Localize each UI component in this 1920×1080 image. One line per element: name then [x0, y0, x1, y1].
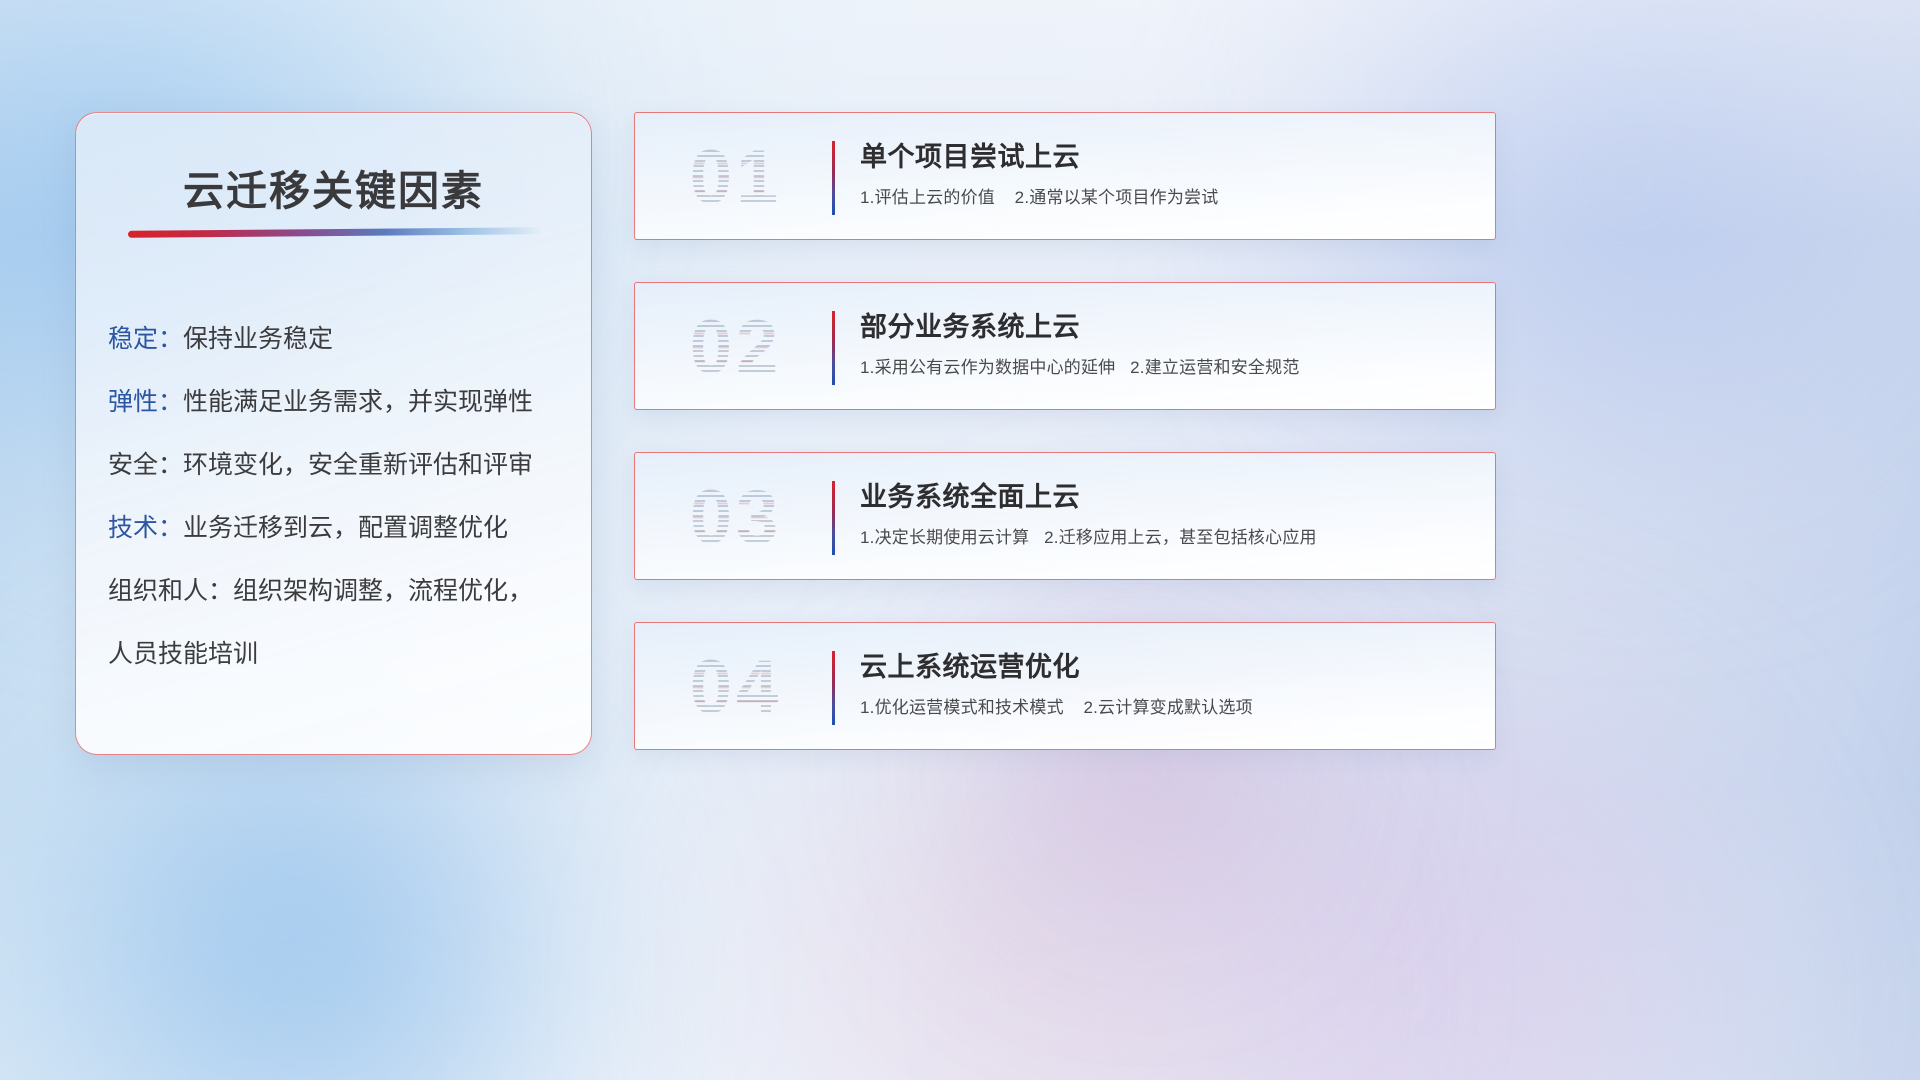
key-factor-line: 安全：环境变化，安全重新评估和评审: [108, 434, 565, 497]
key-factor-label: 稳定：: [108, 325, 183, 353]
key-factor-text: 人员技能培训: [108, 640, 258, 668]
key-factor-label: 安全：: [108, 451, 183, 479]
step-number-striped: 04: [661, 645, 811, 731]
key-factor-line: 弹性：性能满足业务需求，并实现弹性: [108, 371, 565, 434]
step-card-02[interactable]: 0202部分业务系统上云1.采用公有云作为数据中心的延伸 2.建立运营和安全规范: [634, 282, 1496, 410]
key-factor-text: 组织架构调整，流程优化，: [233, 577, 533, 605]
key-factor-text: 业务迁移到云，配置调整优化: [183, 514, 508, 542]
step-divider-bar: [832, 141, 835, 215]
step-card-04[interactable]: 0404云上系统运营优化1.优化运营模式和技术模式 2.云计算变成默认选项: [634, 622, 1496, 750]
step-number-striped: 03: [661, 475, 811, 561]
key-factors-list: 稳定：保持业务稳定弹性：性能满足业务需求，并实现弹性安全：环境变化，安全重新评估…: [108, 308, 565, 686]
slide-content: 云迁移关键因素 稳定：保持业务稳定弹性：性能满足业务需求，并实现弹性安全：环境变…: [0, 0, 1920, 1080]
step-text-block: 单个项目尝试上云1.评估上云的价值 2.通常以某个项目作为尝试: [860, 137, 1479, 211]
key-factor-line: 技术：业务迁移到云，配置调整优化: [108, 497, 565, 560]
key-factor-label: 组织和人：: [108, 577, 233, 605]
key-factor-text: 环境变化，安全重新评估和评审: [183, 451, 533, 479]
key-factor-line: 组织和人：组织架构调整，流程优化，: [108, 560, 565, 623]
key-factor-text: 保持业务稳定: [183, 325, 333, 353]
step-text-block: 部分业务系统上云1.采用公有云作为数据中心的延伸 2.建立运营和安全规范: [860, 307, 1479, 381]
title-underline-gradient: [128, 227, 543, 238]
step-card-01[interactable]: 0101单个项目尝试上云1.评估上云的价值 2.通常以某个项目作为尝试: [634, 112, 1496, 240]
step-divider-bar: [832, 651, 835, 725]
step-title: 云上系统运营优化: [860, 647, 1479, 687]
panel-title: 云迁移关键因素: [76, 157, 591, 217]
step-divider-bar: [832, 311, 835, 385]
step-title: 业务系统全面上云: [860, 477, 1479, 517]
step-description: 1.采用公有云作为数据中心的延伸 2.建立运营和安全规范: [860, 355, 1479, 381]
step-divider-bar: [832, 481, 835, 555]
step-number-striped: 02: [661, 305, 811, 391]
step-description: 1.优化运营模式和技术模式 2.云计算变成默认选项: [860, 695, 1479, 721]
maturity-steps-list: 0101单个项目尝试上云1.评估上云的价值 2.通常以某个项目作为尝试0202部…: [634, 112, 1496, 750]
key-factors-panel: 云迁移关键因素 稳定：保持业务稳定弹性：性能满足业务需求，并实现弹性安全：环境变…: [75, 112, 592, 755]
key-factor-line: 稳定：保持业务稳定: [108, 308, 565, 371]
step-card-03[interactable]: 0303业务系统全面上云1.决定长期使用云计算 2.迁移应用上云，甚至包括核心应…: [634, 452, 1496, 580]
step-text-block: 业务系统全面上云1.决定长期使用云计算 2.迁移应用上云，甚至包括核心应用: [860, 477, 1479, 551]
key-factor-label: 弹性：: [108, 388, 183, 416]
step-text-block: 云上系统运营优化1.优化运营模式和技术模式 2.云计算变成默认选项: [860, 647, 1479, 721]
step-description: 1.评估上云的价值 2.通常以某个项目作为尝试: [860, 185, 1479, 211]
step-number-striped: 01: [661, 135, 811, 221]
step-title: 部分业务系统上云: [860, 307, 1479, 347]
step-description: 1.决定长期使用云计算 2.迁移应用上云，甚至包括核心应用: [860, 525, 1479, 551]
step-title: 单个项目尝试上云: [860, 137, 1479, 177]
key-factor-text: 性能满足业务需求，并实现弹性: [183, 388, 533, 416]
key-factor-line: 人员技能培训: [108, 623, 565, 686]
key-factor-label: 技术：: [108, 514, 183, 542]
